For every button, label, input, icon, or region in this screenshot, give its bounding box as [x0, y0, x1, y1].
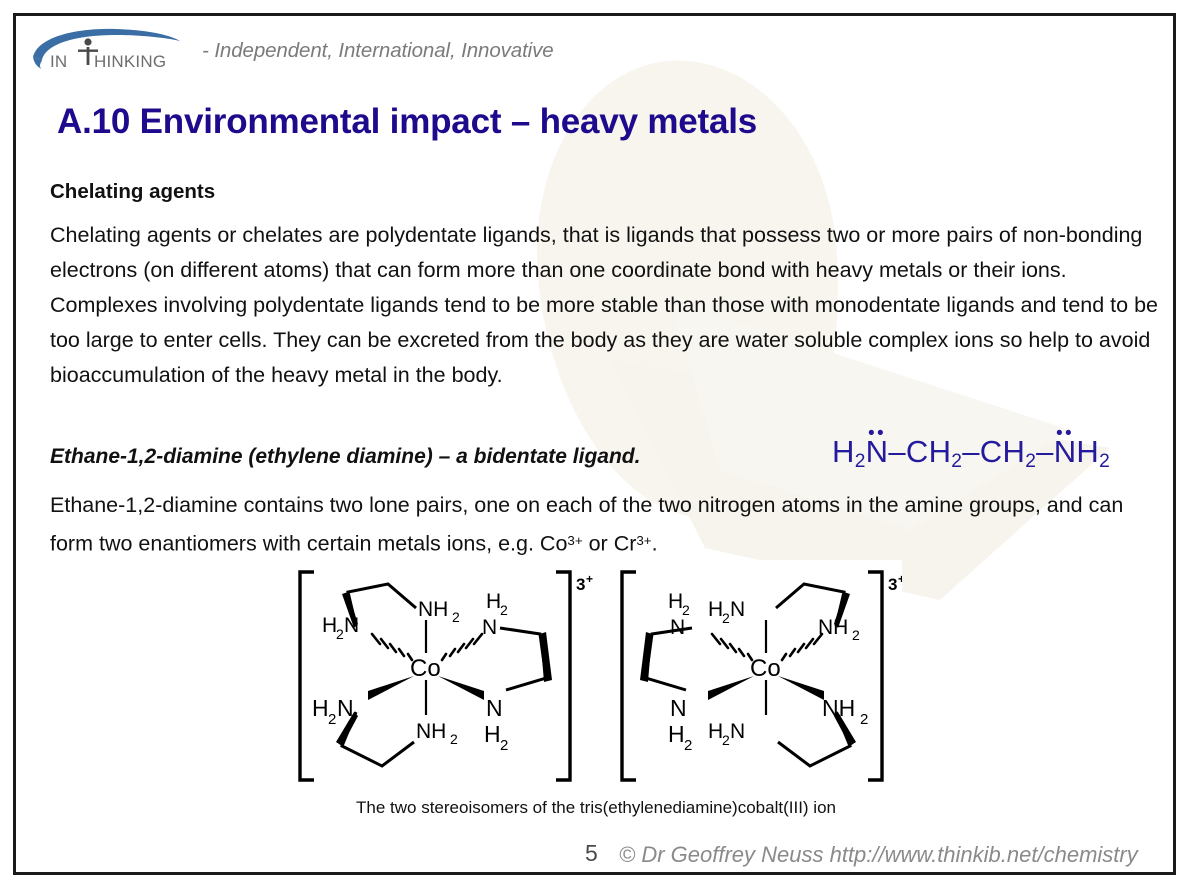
ethylenediamine-structural-formula: H2••N–CH2–CH2–••NH2 [832, 434, 1110, 473]
svg-text:IN: IN [50, 52, 67, 71]
cobalt-charge-superscript: 3+ [567, 533, 582, 548]
body-paragraph-2: Ethane-1,2-diamine contains two lone pai… [50, 488, 1160, 562]
inthinking-logo-icon: IN HINKING [30, 27, 182, 75]
paragraph2-part3: . [652, 532, 658, 556]
svg-text:2: 2 [450, 731, 458, 747]
structure-left-enantiomer: 3 + [290, 560, 596, 792]
lone-pair-dots-2: •• [1056, 424, 1074, 443]
svg-text:N: N [344, 614, 359, 637]
brand-tagline: - Independent, International, Innovative [202, 39, 554, 63]
formula-n-2: ••N [1054, 434, 1077, 470]
svg-text:Co: Co [750, 655, 781, 682]
copyright-credit: © Dr Geoffrey Neuss http://www.thinkib.n… [619, 842, 1138, 868]
svg-text:2: 2 [328, 711, 336, 728]
svg-text:2: 2 [722, 610, 730, 626]
svg-text:2: 2 [500, 737, 508, 754]
svg-text:2: 2 [336, 626, 344, 642]
svg-text:2: 2 [684, 737, 692, 754]
svg-text:N: N [670, 616, 685, 639]
formula-h-1: H2 [832, 434, 866, 469]
svg-text:H: H [708, 598, 723, 621]
ligand-heading: Ethane-1,2-diamine (ethylene diamine) – … [50, 445, 640, 469]
body-paragraph-1: Chelating agents or chelates are polyden… [50, 218, 1158, 393]
svg-text:NH: NH [818, 616, 848, 639]
svg-text:2: 2 [852, 627, 860, 643]
svg-text:N: N [730, 720, 745, 743]
section-subheading: Chelating agents [50, 180, 215, 204]
svg-text:N: N [730, 598, 745, 621]
brand-logo-block: IN HINKING - Independent, International,… [30, 27, 590, 81]
svg-text:3: 3 [576, 575, 585, 594]
formula-n-1: ••N [866, 434, 889, 470]
svg-text:3: 3 [888, 575, 897, 594]
slide-footer: 5 © Dr Geoffrey Neuss http://www.thinkib… [0, 840, 1192, 874]
svg-text:NH: NH [416, 720, 446, 743]
lone-pair-dots-1: •• [868, 424, 886, 443]
slide-canvas: IN HINKING - Independent, International,… [0, 0, 1192, 893]
label-top-nh2: NH [418, 598, 448, 621]
svg-text:N: N [486, 695, 503, 721]
svg-text:H: H [484, 721, 501, 747]
paragraph2-part2: or Cr [583, 532, 637, 556]
svg-text:2: 2 [722, 732, 730, 748]
figure-caption: The two stereoisomers of the tris(ethyle… [0, 798, 1192, 818]
svg-text:2: 2 [860, 711, 868, 728]
chromium-charge-superscript: 3+ [636, 533, 651, 548]
svg-text:2: 2 [500, 602, 508, 618]
stereoisomer-structures-figure: 3 + [290, 560, 902, 792]
svg-text:H: H [312, 695, 329, 721]
svg-text:+: + [586, 572, 593, 586]
svg-text:H: H [708, 720, 723, 743]
ligand-definition-row: Ethane-1,2-diamine (ethylene diamine) – … [50, 440, 1160, 490]
formula-ch2-1: –CH2 [888, 434, 962, 469]
svg-text:H: H [668, 721, 685, 747]
slide-title: A.10 Environmental impact – heavy metals [57, 102, 757, 142]
svg-text:Co: Co [410, 655, 441, 682]
svg-text:NH: NH [822, 695, 855, 721]
formula-bond-3: – [1036, 434, 1054, 469]
svg-text:H: H [322, 614, 337, 637]
svg-text:H: H [486, 590, 501, 613]
formula-h-2: H2 [1076, 434, 1110, 469]
structure-right-enantiomer: 3 + [596, 560, 902, 792]
svg-text:2: 2 [452, 609, 460, 625]
svg-text:HINKING: HINKING [94, 52, 166, 71]
svg-text:H: H [668, 590, 683, 613]
svg-text:N: N [482, 616, 497, 639]
svg-text:N: N [337, 695, 354, 721]
formula-ch2-2: –CH2 [962, 434, 1036, 469]
svg-text:N: N [670, 695, 687, 721]
svg-text:+: + [898, 572, 902, 586]
page-number: 5 [585, 840, 598, 867]
